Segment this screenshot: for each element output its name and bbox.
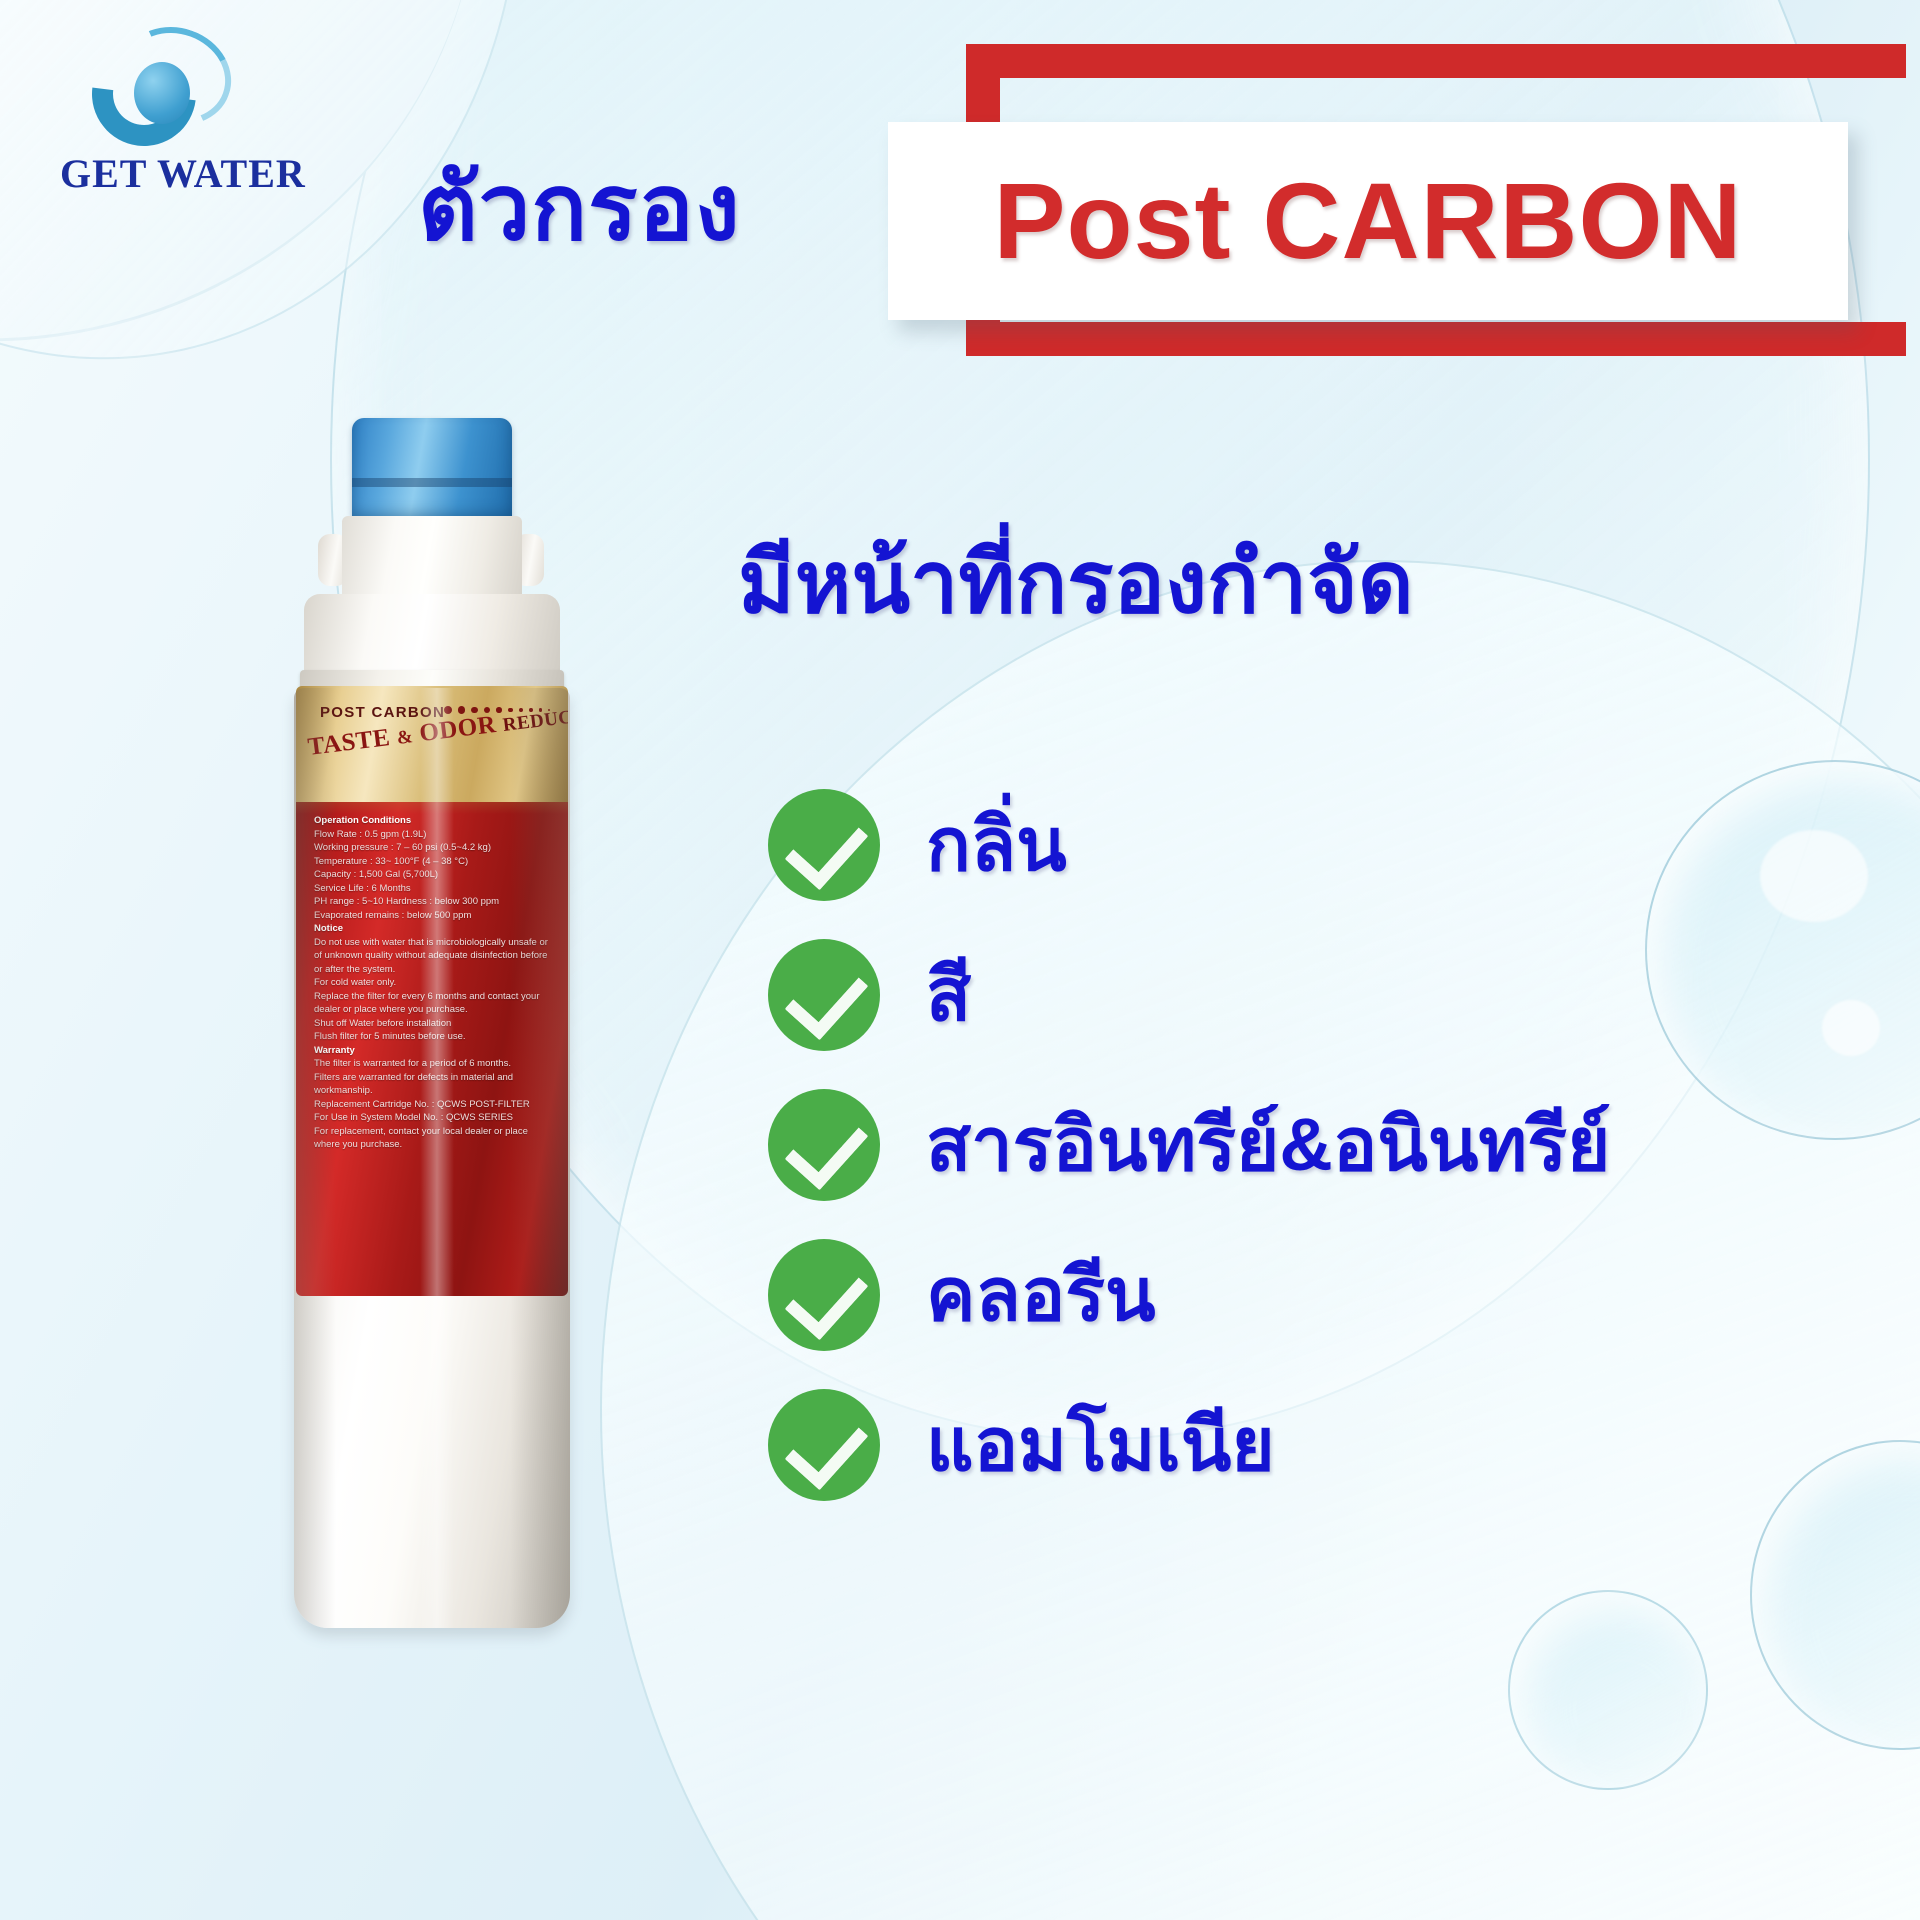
spec-row: Evaporated remains : below 500 ppm: [314, 909, 554, 923]
cartridge-blue-cap: [352, 418, 512, 523]
spec-row: PH range : 5~10 Hardness : below 300 ppm: [314, 895, 554, 909]
title-thai-prefix: ตัวกรอง: [418, 162, 741, 254]
benefit-label: แอมโมเนีย: [926, 1408, 1275, 1482]
product-label: POST CARBON TASTE & ODOR REDUCTION Opera…: [296, 686, 568, 1296]
spec-row: Working pressure : 7 – 60 psi (0.5~4.2 k…: [314, 841, 554, 855]
spec-row: Flow Rate : 0.5 gpm (1.9L): [314, 828, 554, 842]
title-english: Post CARBON: [993, 167, 1742, 275]
label-dot: [444, 706, 452, 714]
spec-row: Temperature : 33~ 100°F (4 – 38 °C): [314, 855, 554, 869]
list-item: สี: [768, 920, 1888, 1070]
label-tagline-amp: &: [396, 726, 415, 749]
notice-row: For cold water only.: [314, 976, 554, 990]
label-specifications: Operation Conditions Flow Rate : 0.5 gpm…: [314, 814, 554, 1152]
check-circle-icon: [768, 1239, 880, 1351]
check-circle-icon: [768, 789, 880, 901]
benefit-label: คลอรีน: [926, 1258, 1156, 1332]
check-circle-icon: [768, 939, 880, 1051]
warranty-row: Filters are warranted for defects in mat…: [314, 1071, 554, 1098]
warranty-row: The filter is warranted for a period of …: [314, 1057, 554, 1071]
warranty-row: Replacement Cartridge No. : QCWS POST-FI…: [314, 1098, 554, 1112]
warranty-row: For Use in System Model No. : QCWS SERIE…: [314, 1111, 554, 1125]
product-filter-cartridge: POST CARBON TASTE & ODOR REDUCTION Opera…: [270, 418, 590, 1628]
list-item: แอมโมเนีย: [768, 1370, 1888, 1520]
list-item: กลิ่น: [768, 770, 1888, 920]
background-bubble-right-small: [1508, 1590, 1708, 1790]
title-banner: ตัวกรอง Post CARBON: [0, 22, 1920, 352]
notice-row: Replace the filter for every 6 months an…: [314, 990, 554, 1017]
check-circle-icon: [768, 1089, 880, 1201]
notice-row: Shut off Water before installation: [314, 1017, 554, 1031]
spec-heading: Operation Conditions: [314, 814, 554, 828]
title-white-card: Post CARBON: [888, 122, 1848, 320]
benefits-list: กลิ่น สี สารอินทรีย์&อนินทรีย์ คลอรีน แอ…: [768, 770, 1888, 1520]
benefit-label: สี: [926, 958, 971, 1032]
benefit-label: กลิ่น: [926, 808, 1067, 882]
benefit-label: สารอินทรีย์&อนินทรีย์: [926, 1108, 1610, 1182]
notice-row: Flush filter for 5 minutes before use.: [314, 1030, 554, 1044]
warranty-heading: Warranty: [314, 1044, 554, 1058]
notice-row: Do not use with water that is microbiolo…: [314, 936, 554, 977]
poster-canvas: GET WATER ตัวกรอง Post CARBON มีหน้าที่ก…: [0, 0, 1920, 1920]
spec-row: Service Life : 6 Months: [314, 882, 554, 896]
spec-row: Capacity : 1,500 Gal (5,700L): [314, 868, 554, 882]
warranty-row: For replacement, contact your local deal…: [314, 1125, 554, 1152]
list-item: สารอินทรีย์&อนินทรีย์: [768, 1070, 1888, 1220]
list-item: คลอรีน: [768, 1220, 1888, 1370]
label-dot: [458, 706, 465, 713]
check-circle-icon: [768, 1389, 880, 1501]
headline-text: มีหน้าที่กรองกำจัด: [738, 540, 1414, 626]
cartridge-neck: [342, 516, 522, 602]
notice-heading: Notice: [314, 922, 554, 936]
